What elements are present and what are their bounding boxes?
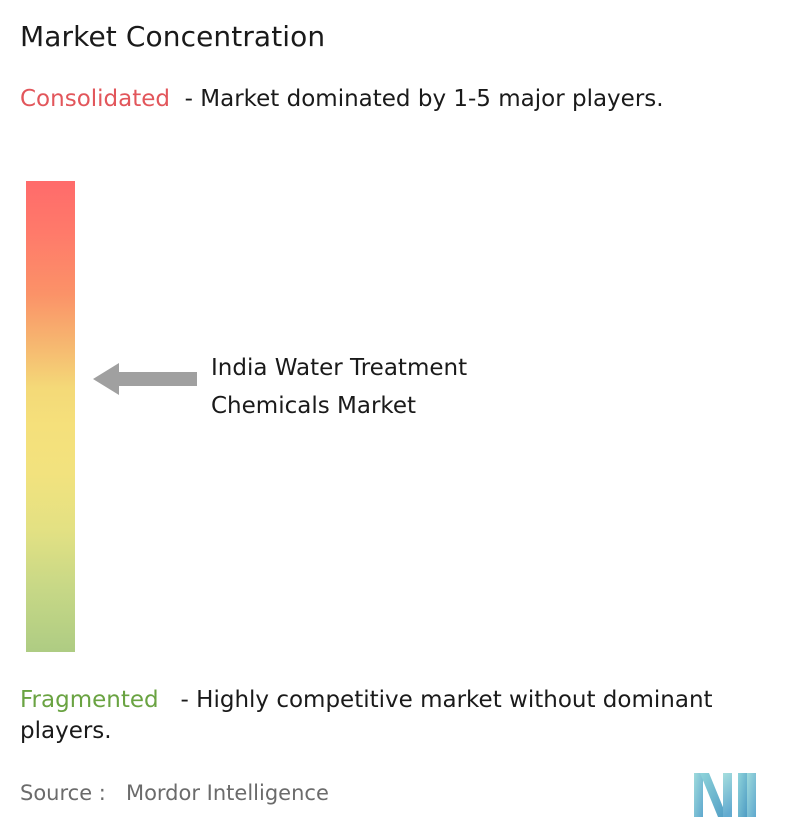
source-attribution: Source : Mordor Intelligence xyxy=(20,779,329,807)
market-marker-label-line1: India Water Treatment xyxy=(211,349,641,387)
page-title: Market Concentration xyxy=(20,20,325,54)
mordor-intelligence-logo xyxy=(694,773,756,817)
source-value: Mordor Intelligence xyxy=(126,781,329,805)
legend-consolidated-description: - Market dominated by 1-5 major players. xyxy=(185,86,664,112)
arrow-left-icon xyxy=(93,359,197,399)
legend-fragmented: Fragmented - Highly competitive market w… xyxy=(20,685,790,747)
concentration-gradient-bar xyxy=(26,181,75,652)
source-label: Source : xyxy=(20,781,106,805)
legend-consolidated: Consolidated - Market dominated by 1-5 m… xyxy=(20,84,776,115)
legend-consolidated-tag: Consolidated xyxy=(20,86,170,112)
legend-fragmented-tag: Fragmented xyxy=(20,687,159,713)
market-marker-label-line2: Chemicals Market xyxy=(211,387,641,425)
market-marker-label: India Water Treatment Chemicals Market xyxy=(211,349,641,425)
